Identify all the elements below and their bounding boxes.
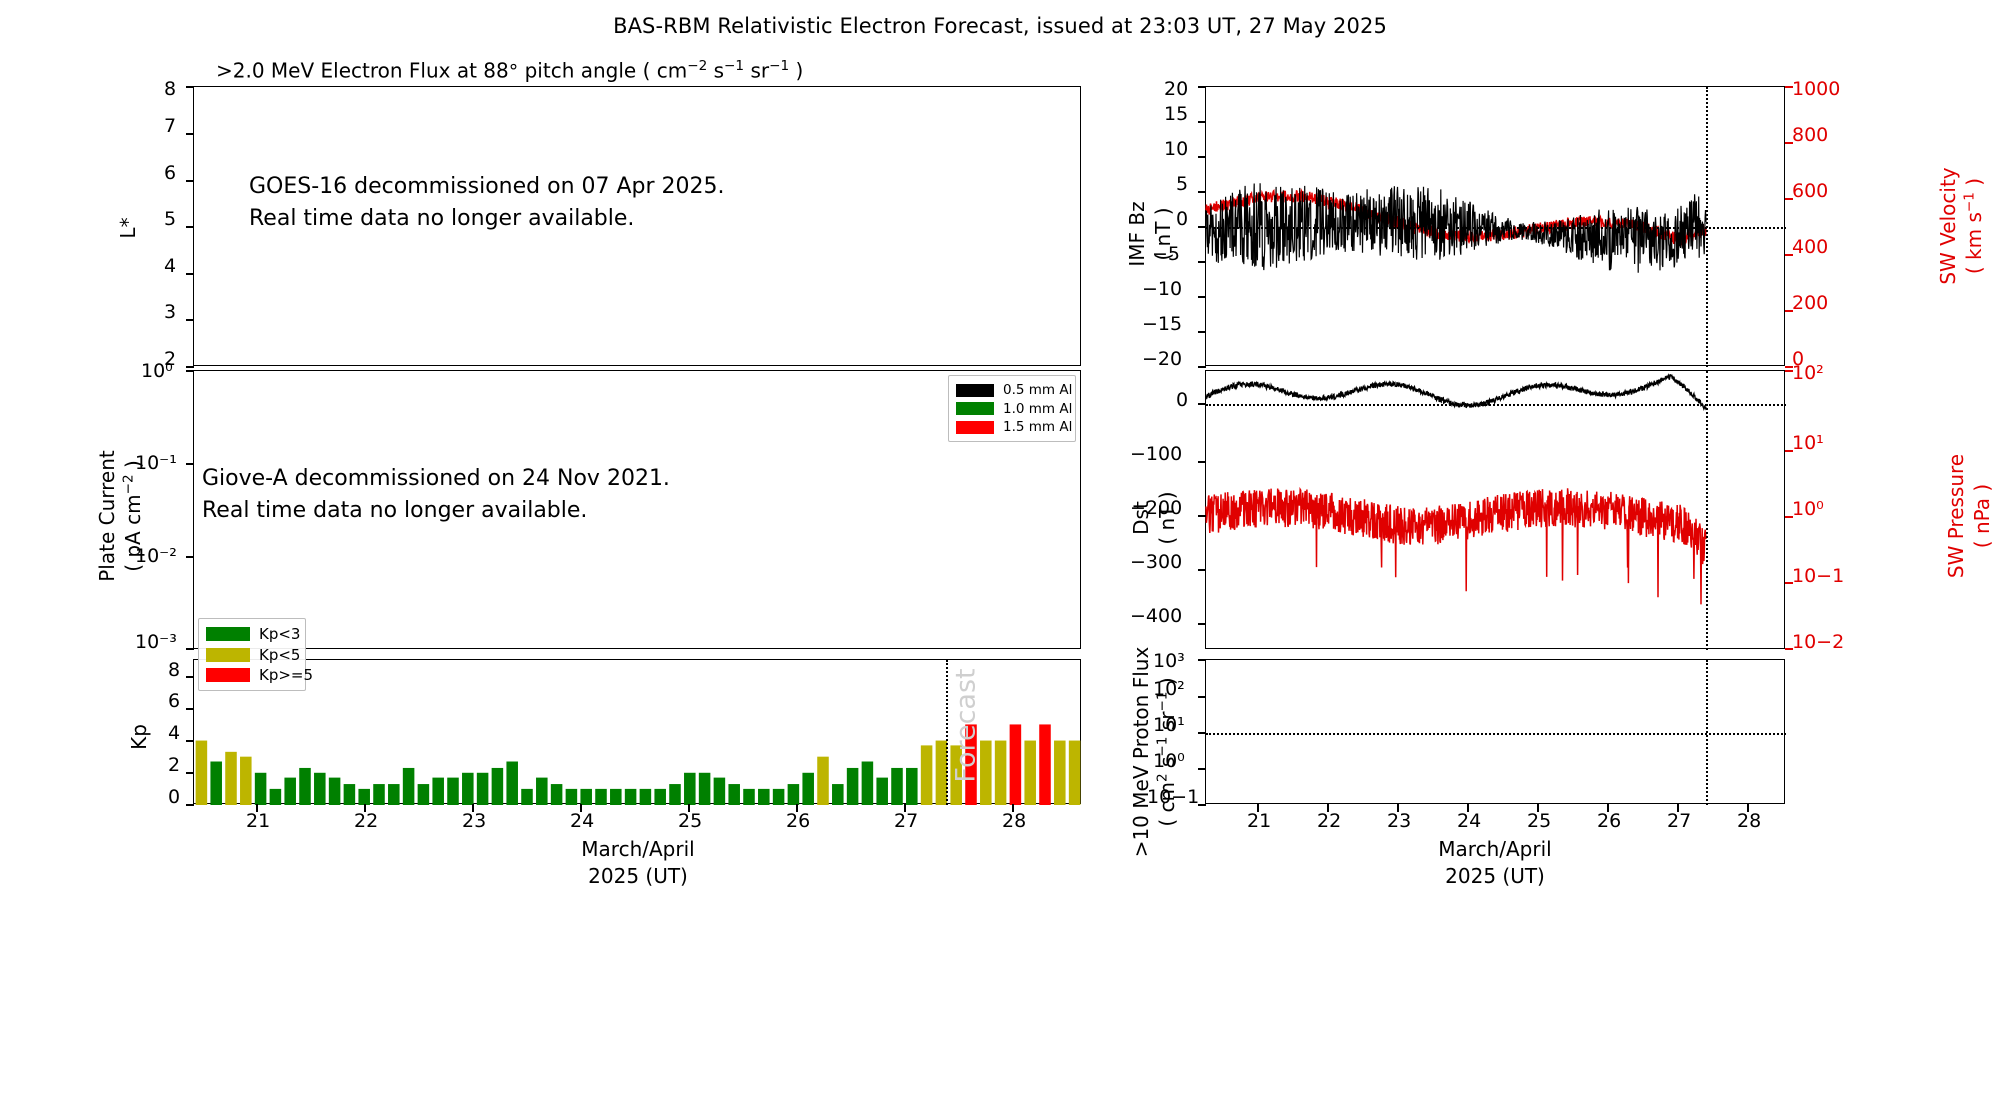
figure-suptitle: BAS-RBM Relativistic Electron Forecast, …: [0, 14, 2000, 38]
kp-bar: [418, 784, 430, 805]
plate-current-legend: 0.5 mm Al 1.0 mm Al 1.5 mm Al: [948, 375, 1076, 442]
kp-bar: [506, 762, 518, 806]
electron-flux-ylabel: L*: [116, 208, 140, 248]
kp-bar: [1069, 741, 1081, 805]
legend-item: Kp>=5: [206, 666, 298, 685]
kp-bar: [1024, 741, 1036, 805]
kp-bar: [773, 789, 785, 805]
kp-bar: [196, 741, 208, 805]
kp-bar: [832, 784, 844, 805]
kp-bar: [980, 741, 992, 805]
kp-bar: [521, 789, 533, 805]
kp-bar: [270, 789, 282, 805]
kp-bar: [299, 768, 311, 805]
legend-swatch-black: [956, 384, 994, 397]
kp-bar: [314, 773, 326, 805]
kp-bar: [210, 762, 222, 806]
kp-bar: [225, 752, 237, 805]
kp-bar: [758, 789, 770, 805]
kp-bar: [862, 762, 874, 806]
kp-bar: [684, 773, 696, 805]
imf-bz-zero-line: [1206, 227, 1786, 229]
kp-ylabel: Kp: [127, 714, 151, 760]
kp-bar: [876, 778, 888, 805]
plate-current-panel: Giove-A decommissioned on 24 Nov 2021.Re…: [193, 370, 1081, 649]
imf-bz-panel: [1205, 86, 1785, 366]
legend-swatch-olive: [206, 648, 250, 662]
dst-ylabel-right: SW Pressure ( nPa ): [1943, 421, 1995, 611]
kp-legend: Kp<3 Kp<5 Kp>=5: [198, 618, 306, 691]
dst-traces: [1206, 371, 1786, 650]
kp-bar: [373, 784, 385, 805]
plate-current-message: Giove-A decommissioned on 24 Nov 2021.Re…: [202, 463, 670, 527]
kp-bar: [447, 778, 459, 805]
kp-bar: [551, 784, 563, 805]
proton-flux-xlabel: March/April 2025 (UT): [1350, 836, 1640, 890]
degree-symbol: °: [509, 61, 519, 83]
legend-swatch-red: [206, 668, 250, 682]
kp-bar: [654, 789, 666, 805]
kp-bar: [462, 773, 474, 805]
proton-flux-threshold-line: [1206, 733, 1786, 735]
kp-bar: [284, 778, 296, 805]
legend-swatch-red: [956, 421, 994, 434]
kp-bar: [536, 778, 548, 805]
kp-bar: [595, 789, 607, 805]
kp-panel: Forecast Kp<3 Kp<5 Kp>=5: [193, 659, 1081, 804]
legend-item: 0.5 mm Al: [956, 382, 1068, 399]
kp-bar: [891, 768, 903, 805]
kp-bar: [580, 789, 592, 805]
kp-bar-chart: [194, 660, 1082, 805]
figure-canvas: BAS-RBM Relativistic Electron Forecast, …: [0, 0, 2000, 1100]
legend-item: 1.0 mm Al: [956, 400, 1068, 417]
kp-bar: [432, 778, 444, 805]
kp-bar: [714, 778, 726, 805]
kp-forecast-divider: [946, 660, 948, 805]
legend-item: Kp<3: [206, 625, 298, 644]
dst-panel: [1205, 370, 1785, 649]
kp-bar: [477, 773, 489, 805]
kp-bar: [358, 789, 370, 805]
kp-bar: [388, 784, 400, 805]
sw-pressure-trace: [1206, 488, 1706, 604]
dst-forecast-divider: [1706, 371, 1708, 650]
kp-xlabel: March/April 2025 (UT): [493, 836, 783, 890]
kp-bar: [669, 784, 681, 805]
kp-bar: [699, 773, 711, 805]
kp-bar: [610, 789, 622, 805]
imf-bz-ylabel-right: SW Velocity ( km s−1 ): [1935, 131, 1987, 321]
dst-zero-line: [1206, 404, 1786, 406]
kp-bar: [1054, 741, 1066, 805]
kp-bar: [802, 773, 814, 805]
kp-bar: [240, 757, 252, 805]
kp-bar: [817, 757, 829, 805]
proton-flux-forecast-divider: [1706, 660, 1708, 805]
kp-bar: [743, 789, 755, 805]
legend-swatch-green: [956, 402, 994, 415]
kp-bar: [329, 778, 341, 805]
kp-bar: [403, 768, 415, 805]
kp-bar: [255, 773, 267, 805]
kp-bar: [1039, 724, 1051, 805]
kp-bar: [344, 784, 356, 805]
electron-flux-panel: GOES-16 decommissioned on 07 Apr 2025.Re…: [193, 86, 1081, 366]
kp-bar: [788, 784, 800, 805]
kp-bar: [566, 789, 578, 805]
kp-bar: [728, 784, 740, 805]
electron-flux-panel-title: >2.0 MeV Electron Flux at 88° pitch angl…: [216, 58, 803, 83]
kp-bar: [640, 789, 652, 805]
kp-forecast-watermark: Forecast: [951, 666, 982, 786]
kp-bar: [625, 789, 637, 805]
proton-flux-panel: [1205, 659, 1785, 804]
kp-bar: [995, 741, 1007, 805]
imf-bz-forecast-divider: [1706, 87, 1708, 367]
legend-item: Kp<5: [206, 645, 298, 664]
legend-item: 1.5 mm Al: [956, 419, 1068, 436]
kp-bar: [1010, 724, 1022, 805]
electron-flux-message: GOES-16 decommissioned on 07 Apr 2025.Re…: [249, 171, 725, 235]
kp-bar: [921, 745, 933, 805]
kp-bar: [906, 768, 918, 805]
legend-swatch-green: [206, 627, 250, 641]
kp-bar: [847, 768, 859, 805]
kp-bar: [492, 768, 504, 805]
